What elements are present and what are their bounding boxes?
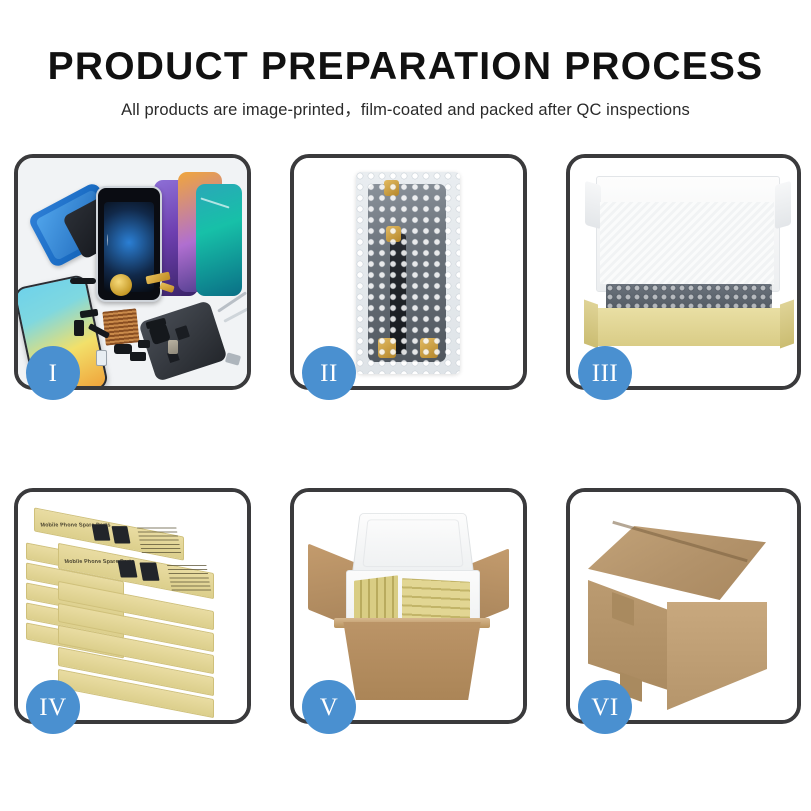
- earpiece-mesh: [70, 278, 96, 284]
- box-art-screen-1a: [92, 524, 111, 540]
- back-housing: [138, 300, 228, 382]
- step-badge-6: VI: [578, 680, 632, 734]
- carton-body: [334, 622, 490, 700]
- teal-phone: [196, 184, 242, 296]
- copper-mesh-part: [102, 308, 139, 345]
- bubble-wrap-bag: [356, 172, 460, 374]
- step-badge-4: IV: [26, 680, 80, 734]
- foam-sheet: [600, 202, 774, 284]
- process-step-3: III: [566, 154, 801, 390]
- page-title: PRODUCT PREPARATION PROCESS: [0, 0, 811, 90]
- step-badge-2: II: [302, 346, 356, 400]
- process-step-4: Mobile Phone Spare Parts Mobile Phone Sp…: [14, 488, 251, 724]
- process-step-6: VI: [566, 488, 801, 724]
- step-badge-5: V: [302, 680, 356, 734]
- box-spec-lines-2: [167, 564, 211, 590]
- screwdriver-2: [223, 306, 247, 323]
- screw-set: [225, 352, 241, 365]
- connector-mid: [386, 226, 401, 242]
- product-preparation-infographic: PRODUCT PREPARATION PROCESS All products…: [0, 0, 811, 811]
- button-part: [138, 340, 150, 348]
- carton-top-face: [588, 526, 766, 600]
- connector-bottom-left: [378, 338, 396, 358]
- process-step-1: I: [14, 154, 251, 390]
- carton-left-face: [588, 580, 668, 690]
- wrapped-screen-assembly: [368, 184, 446, 362]
- carton-right-face: [667, 602, 767, 710]
- small-flex-2: [74, 320, 84, 336]
- box-spec-lines-1: [137, 526, 181, 552]
- sim-tray: [96, 350, 107, 366]
- step-badge-1: I: [26, 346, 80, 400]
- connector-bottom-right: [420, 338, 438, 358]
- antenna-part: [130, 352, 146, 361]
- box-art-screen-2b: [139, 562, 159, 580]
- connector-top: [384, 180, 399, 196]
- box-art-screen-1b: [112, 526, 131, 543]
- small-flex-1: [80, 309, 99, 318]
- foam-lid: [352, 513, 474, 575]
- header: PRODUCT PREPARATION PROCESS All products…: [0, 0, 811, 121]
- step-badge-3: III: [578, 346, 632, 400]
- process-step-5: V: [290, 488, 527, 724]
- gold-box-base: [594, 308, 784, 346]
- page-subtitle: All products are image-printed，film-coat…: [0, 90, 811, 121]
- speaker-module: [110, 274, 132, 296]
- process-step-grid: I II: [14, 154, 800, 736]
- crack-pattern: [107, 218, 151, 262]
- wrapped-flex-cable: [390, 234, 406, 354]
- process-step-2: II: [290, 154, 527, 390]
- metal-bracket: [168, 340, 178, 354]
- box-art-screen-2a: [118, 560, 138, 577]
